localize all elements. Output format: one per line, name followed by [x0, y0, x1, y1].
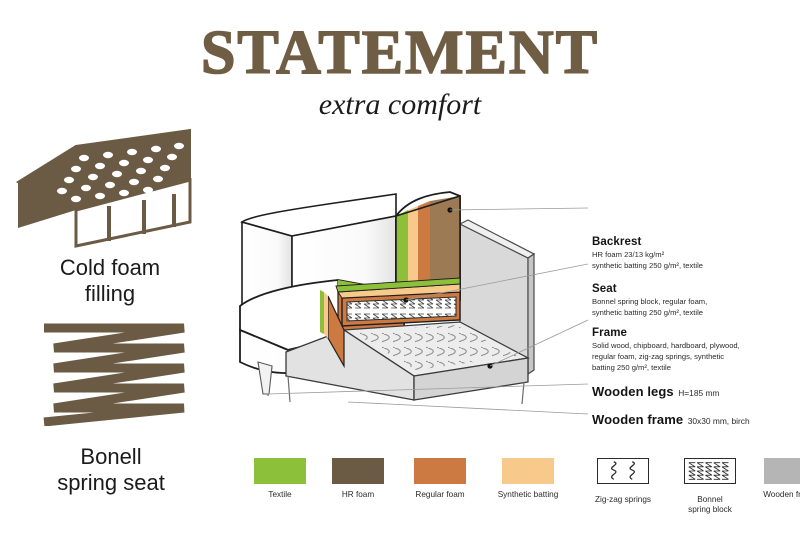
- legend-item-zigzag-springs: Zig-zag springs: [580, 458, 666, 505]
- legend-item-bonnel-spring-block: Bonnel spring block: [672, 458, 748, 516]
- legend-swatch-hr-foam: [332, 458, 384, 484]
- legend-swatch-regular-foam: [414, 458, 466, 484]
- cold-foam-block-icon: [14, 124, 210, 252]
- legend-item-synthetic-batting: Synthetic batting: [482, 458, 574, 500]
- poster-canvas: STATEMENT extra comfort: [0, 0, 800, 533]
- callout-wooden-legs: Wooden legs H=185 mm: [592, 383, 719, 401]
- legend-item-regular-foam: Regular foam: [400, 458, 480, 500]
- legend-label-regular-foam: Regular foam: [400, 490, 480, 500]
- callout-seat-desc: Bonnel spring block, regular foam, synth…: [592, 296, 707, 318]
- legend-item-textile: Textile: [244, 458, 316, 500]
- callout-backrest: Backrest HR foam 23/13 kg/m² synthetic b…: [592, 236, 703, 271]
- callout-seat: Seat Bonnel spring block, regular foam, …: [592, 283, 707, 318]
- legend-label-wooden-frame: Wooden frame: [750, 490, 800, 500]
- callout-wooden-legs-value: H=185 mm: [678, 388, 719, 398]
- legend-label-textile: Textile: [244, 490, 316, 500]
- legend: Textile HR foam Regular foam Synthetic b…: [244, 458, 792, 528]
- callout-wooden-frame: Wooden frame 30x30 mm, birch: [592, 411, 750, 429]
- legend-label-bonnel-spring-block: Bonnel spring block: [672, 495, 748, 516]
- callout-seat-title: Seat: [592, 283, 707, 295]
- callout-frame-title: Frame: [592, 327, 740, 339]
- bonell-spring-label: Bonell spring seat: [8, 444, 214, 496]
- title-block: STATEMENT extra comfort: [150, 22, 650, 120]
- callout-backrest-title: Backrest: [592, 236, 703, 248]
- zigzag-springs-icon: [597, 458, 649, 484]
- zigzag-spring-icon: [38, 322, 190, 426]
- callout-frame-desc: Solid wood, chipboard, hardboard, plywoo…: [592, 340, 740, 373]
- bonnel-spring-icon: [684, 458, 736, 484]
- callout-backrest-desc: HR foam 23/13 kg/m² synthetic batting 25…: [592, 249, 703, 271]
- legend-label-zigzag-springs: Zig-zag springs: [580, 495, 666, 505]
- legend-swatch-textile: [254, 458, 306, 484]
- callout-wooden-frame-value: 30x30 mm, birch: [688, 416, 750, 426]
- legend-label-synthetic-batting: Synthetic batting: [482, 490, 574, 500]
- callout-wooden-frame-title: Wooden frame: [592, 412, 683, 427]
- sofa-cutaway-diagram: [228, 180, 588, 420]
- legend-item-hr-foam: HR foam: [322, 458, 394, 500]
- callout-wooden-legs-title: Wooden legs: [592, 384, 674, 399]
- page-subtitle: extra comfort: [150, 90, 650, 120]
- cold-foam-label: Cold foam filling: [10, 255, 210, 307]
- legend-swatch-wooden-frame: [764, 458, 800, 484]
- legend-label-hr-foam: HR foam: [322, 490, 394, 500]
- legend-item-wooden-frame: Wooden frame: [750, 458, 800, 500]
- legend-swatch-synthetic-batting: [502, 458, 554, 484]
- page-title: STATEMENT: [150, 22, 650, 84]
- callout-frame: Frame Solid wood, chipboard, hardboard, …: [592, 327, 740, 373]
